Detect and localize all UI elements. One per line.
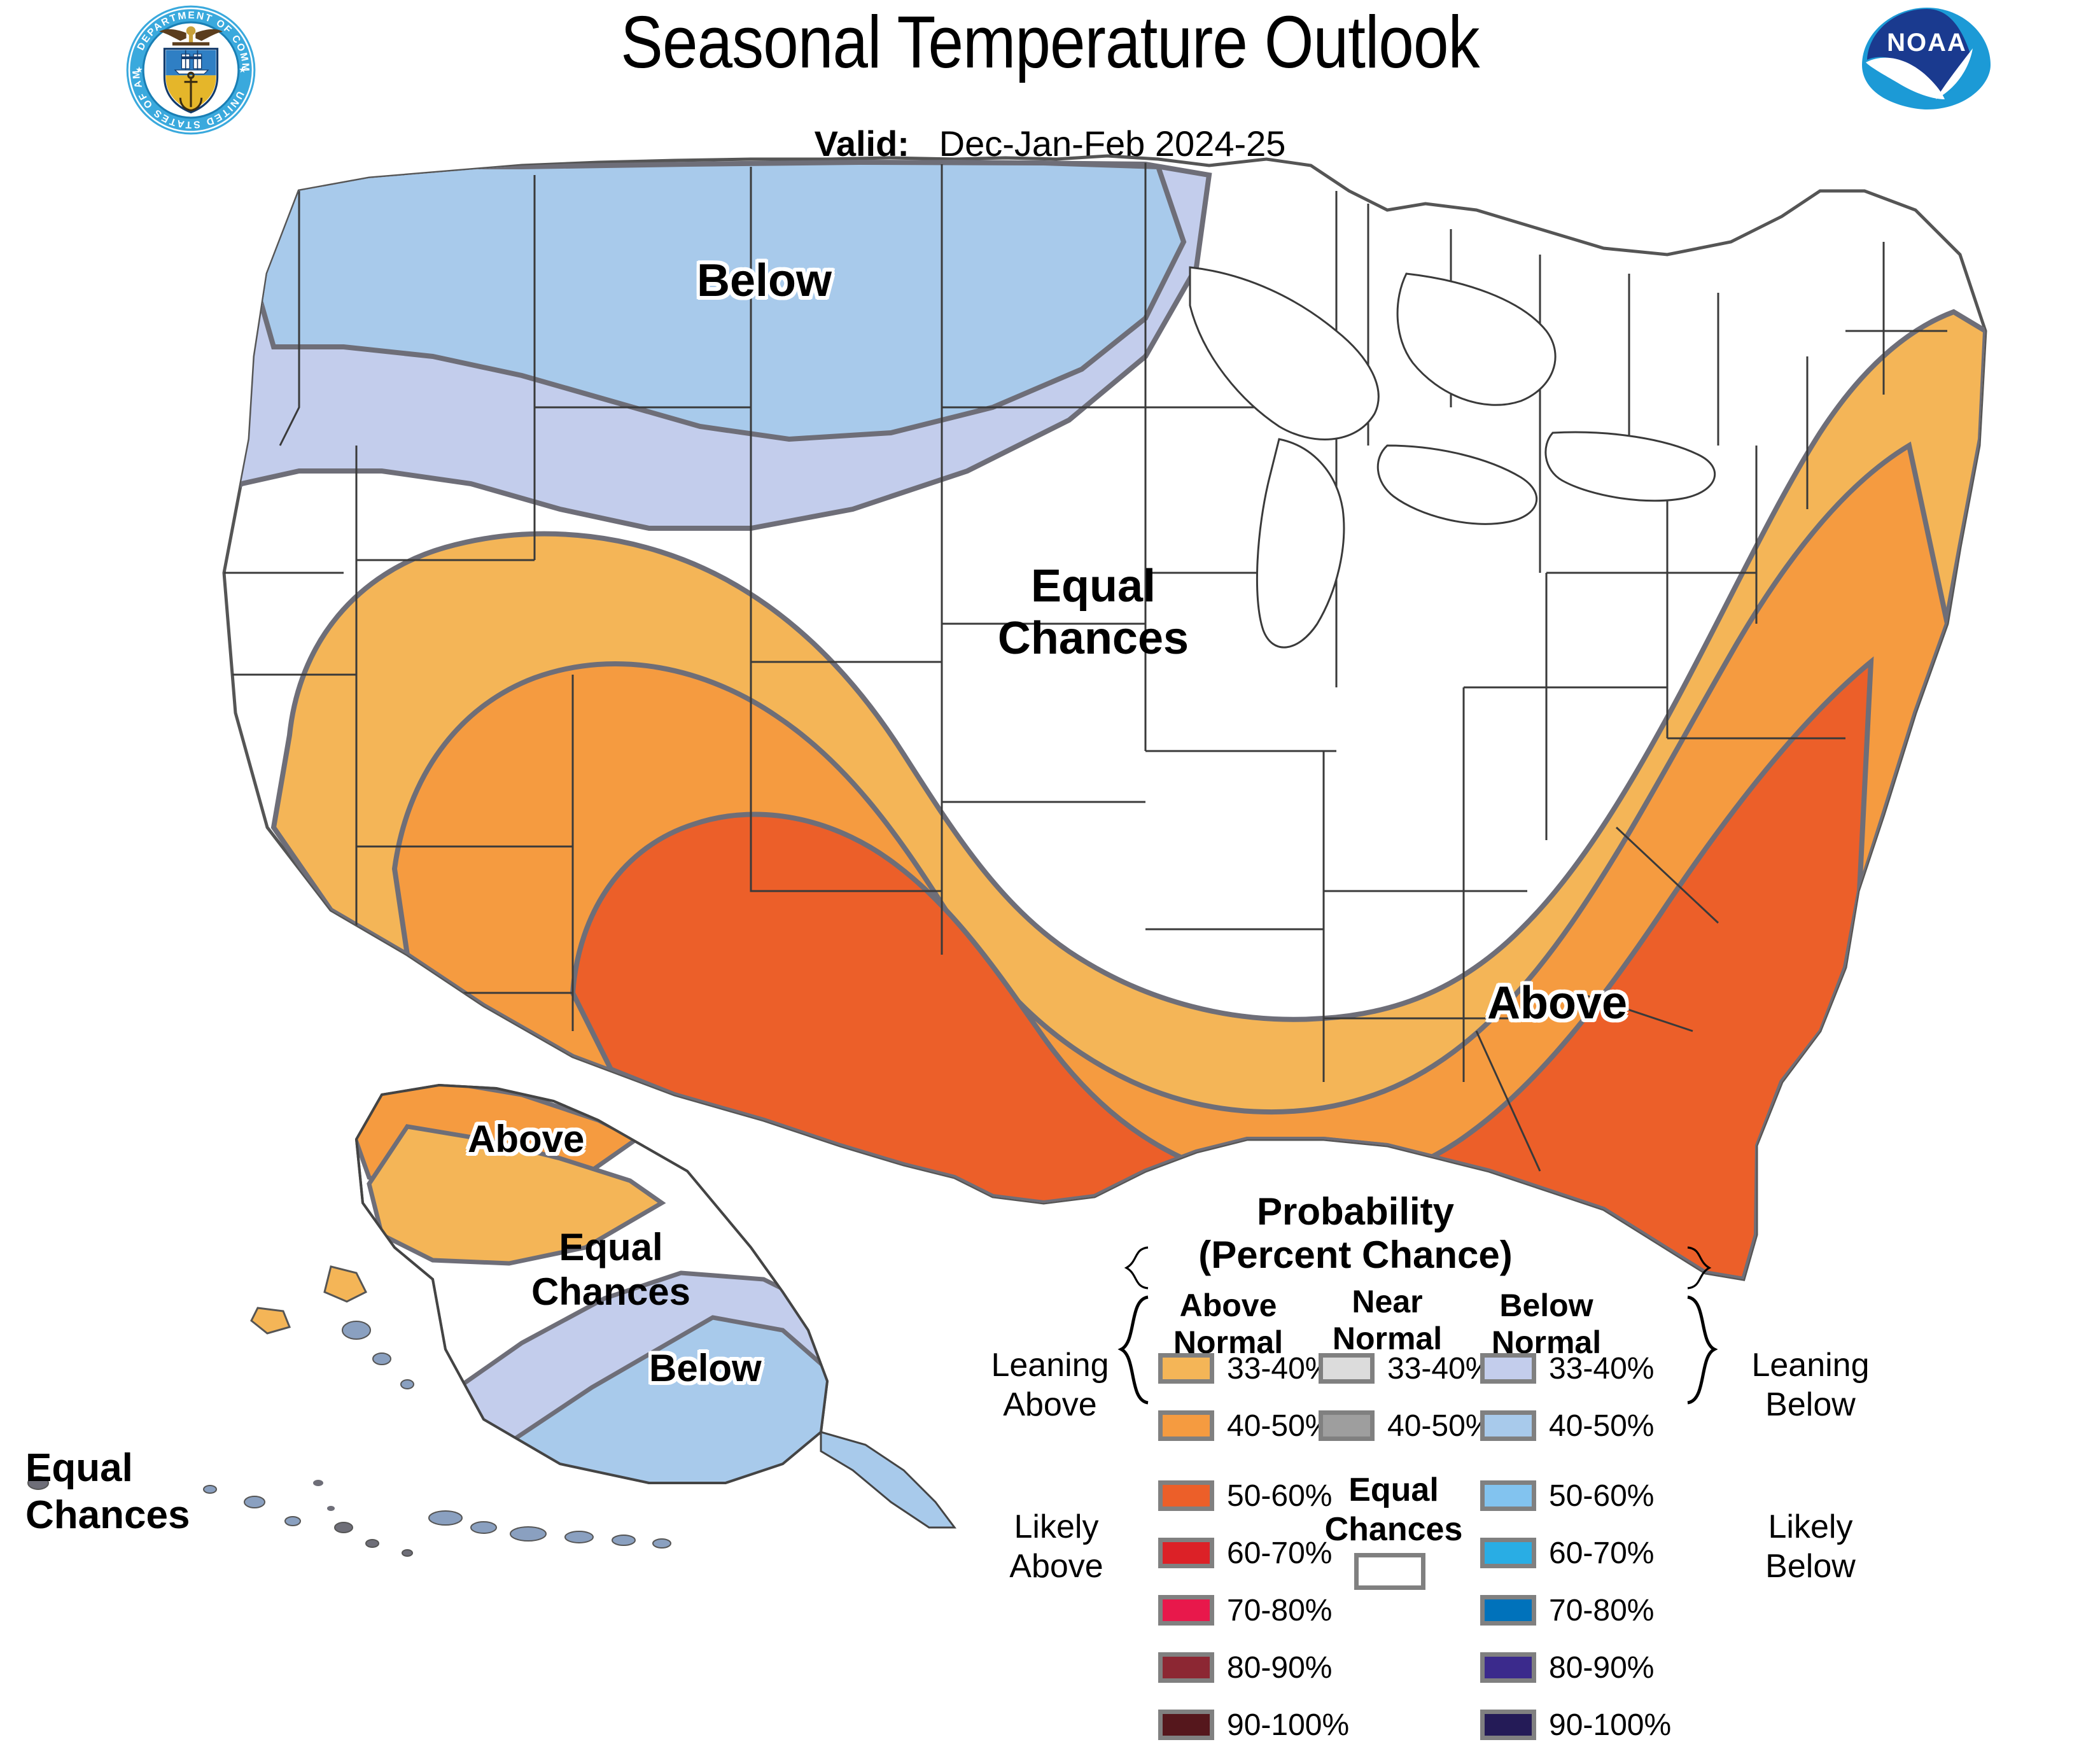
legend-range-below-70-80: 70-80% — [1549, 1595, 1654, 1627]
map-label-below-conus: Below — [697, 255, 832, 307]
ec-ak-line1: Equal — [559, 1226, 662, 1268]
grp-lka-l1: Likely — [1014, 1508, 1099, 1545]
legend-swatch-above-33-40 — [1158, 1353, 1214, 1384]
brace-leaning-above — [1126, 1247, 1148, 1288]
alaska-panhandle — [821, 1432, 955, 1528]
map-label-above-alaska: Above — [468, 1117, 584, 1161]
map-label-equal-chances-conus: Equal Chances — [988, 560, 1198, 664]
legend-swatch-above-40-50 — [1158, 1410, 1214, 1441]
legend-group-likely-above: Likely Above — [974, 1507, 1139, 1586]
legend-swatch-near-40-50 — [1319, 1410, 1375, 1441]
legend-group-leaning-above: Leaning Above — [961, 1345, 1139, 1424]
col-below-l1: Below — [1499, 1288, 1593, 1323]
legend-swatch-above-80-90 — [1158, 1652, 1214, 1683]
legend-swatch-below-60-70 — [1480, 1538, 1536, 1568]
legend-swatch-above-90-100 — [1158, 1710, 1214, 1740]
legend-group-likely-below: Likely Below — [1725, 1507, 1896, 1586]
legend-swatch-below-33-40 — [1480, 1353, 1536, 1384]
misc-islands — [313, 1480, 335, 1511]
legend-range-near-40-50: 40-50% — [1387, 1410, 1492, 1442]
grp-lkb-l2: Below — [1765, 1548, 1856, 1585]
legend-range-below-33-40: 33-40% — [1549, 1353, 1654, 1385]
brace-likely-below — [1688, 1297, 1714, 1403]
ec-hi-line2: Chances — [25, 1493, 190, 1537]
legend-panel: Probability (Percent Chance) Above Norma… — [967, 1190, 1896, 1610]
legend-range-below-80-90: 80-90% — [1549, 1652, 1654, 1684]
map-label-below-alaska: Below — [649, 1346, 762, 1390]
legend-range-above-90-100: 90-100% — [1227, 1710, 1349, 1741]
grp-lkb-l1: Likely — [1768, 1508, 1853, 1545]
legend-swatch-below-90-100 — [1480, 1710, 1536, 1740]
ec-hi-line1: Equal — [25, 1446, 133, 1490]
legend-range-above-50-60: 50-60% — [1227, 1480, 1332, 1512]
legend-column-header-near-normal: Near Normal — [1317, 1283, 1457, 1357]
legend-swatch-above-70-80 — [1158, 1595, 1214, 1626]
grp-la-l1: Leaning — [991, 1347, 1109, 1384]
legend-range-below-60-70: 60-70% — [1549, 1538, 1654, 1570]
legend-swatch-above-50-60 — [1158, 1480, 1214, 1511]
ec-conus-line2: Chances — [998, 613, 1189, 664]
legend-swatch-near-33-40 — [1319, 1353, 1375, 1384]
legend-title-line1: Probability — [1257, 1190, 1454, 1233]
legend-swatch-above-60-70 — [1158, 1538, 1214, 1568]
legend-swatch-below-40-50 — [1480, 1410, 1536, 1441]
col-above-l1: Above — [1180, 1288, 1277, 1323]
legend-range-above-70-80: 70-80% — [1227, 1595, 1332, 1627]
col-near-l2: Normal — [1333, 1321, 1442, 1356]
map-label-equal-chances-alaska: Equal Chances — [528, 1225, 694, 1314]
ec-conus-line1: Equal — [1031, 561, 1156, 612]
grp-lb-l2: Below — [1765, 1386, 1856, 1423]
legend-range-above-40-50: 40-50% — [1227, 1410, 1332, 1442]
legend-range-below-50-60: 50-60% — [1549, 1480, 1654, 1512]
brace-leaning-below — [1688, 1247, 1709, 1288]
legend-range-below-40-50: 40-50% — [1549, 1410, 1654, 1442]
legend-range-above-33-40: 33-40% — [1227, 1353, 1332, 1385]
legend-range-above-80-90: 80-90% — [1227, 1652, 1332, 1684]
grp-la-l2: Above — [1003, 1386, 1096, 1423]
legend-title-line2: (Percent Chance) — [1198, 1233, 1512, 1276]
legend-column-header-below-normal: Below Normal — [1476, 1287, 1616, 1361]
map-label-above-conus: Above — [1487, 977, 1627, 1029]
legend-swatch-below-80-90 — [1480, 1652, 1536, 1683]
legend-title: Probability (Percent Chance) — [1152, 1190, 1559, 1277]
legend-range-below-90-100: 90-100% — [1549, 1710, 1671, 1741]
legend-range-above-60-70: 60-70% — [1227, 1538, 1332, 1570]
legend-swatch-below-70-80 — [1480, 1595, 1536, 1626]
legend-equal-chances-label: Equal Chances — [1320, 1470, 1467, 1549]
map-label-equal-chances-hawaii: Equal Chances — [25, 1445, 190, 1539]
legend-ec-l1: Equal — [1348, 1472, 1439, 1508]
legend-swatch-equal-chances — [1354, 1553, 1425, 1590]
legend-range-near-33-40: 33-40% — [1387, 1353, 1492, 1385]
legend-group-leaning-below: Leaning Below — [1718, 1345, 1903, 1424]
legend-column-header-above-normal: Above Normal — [1158, 1287, 1298, 1361]
legend-ec-l2: Chances — [1325, 1511, 1463, 1548]
grp-lb-l1: Leaning — [1751, 1347, 1869, 1384]
grp-lka-l2: Above — [1009, 1548, 1103, 1585]
legend-swatch-below-50-60 — [1480, 1480, 1536, 1511]
ec-ak-line2: Chances — [531, 1270, 690, 1313]
col-near-l1: Near — [1352, 1284, 1422, 1319]
